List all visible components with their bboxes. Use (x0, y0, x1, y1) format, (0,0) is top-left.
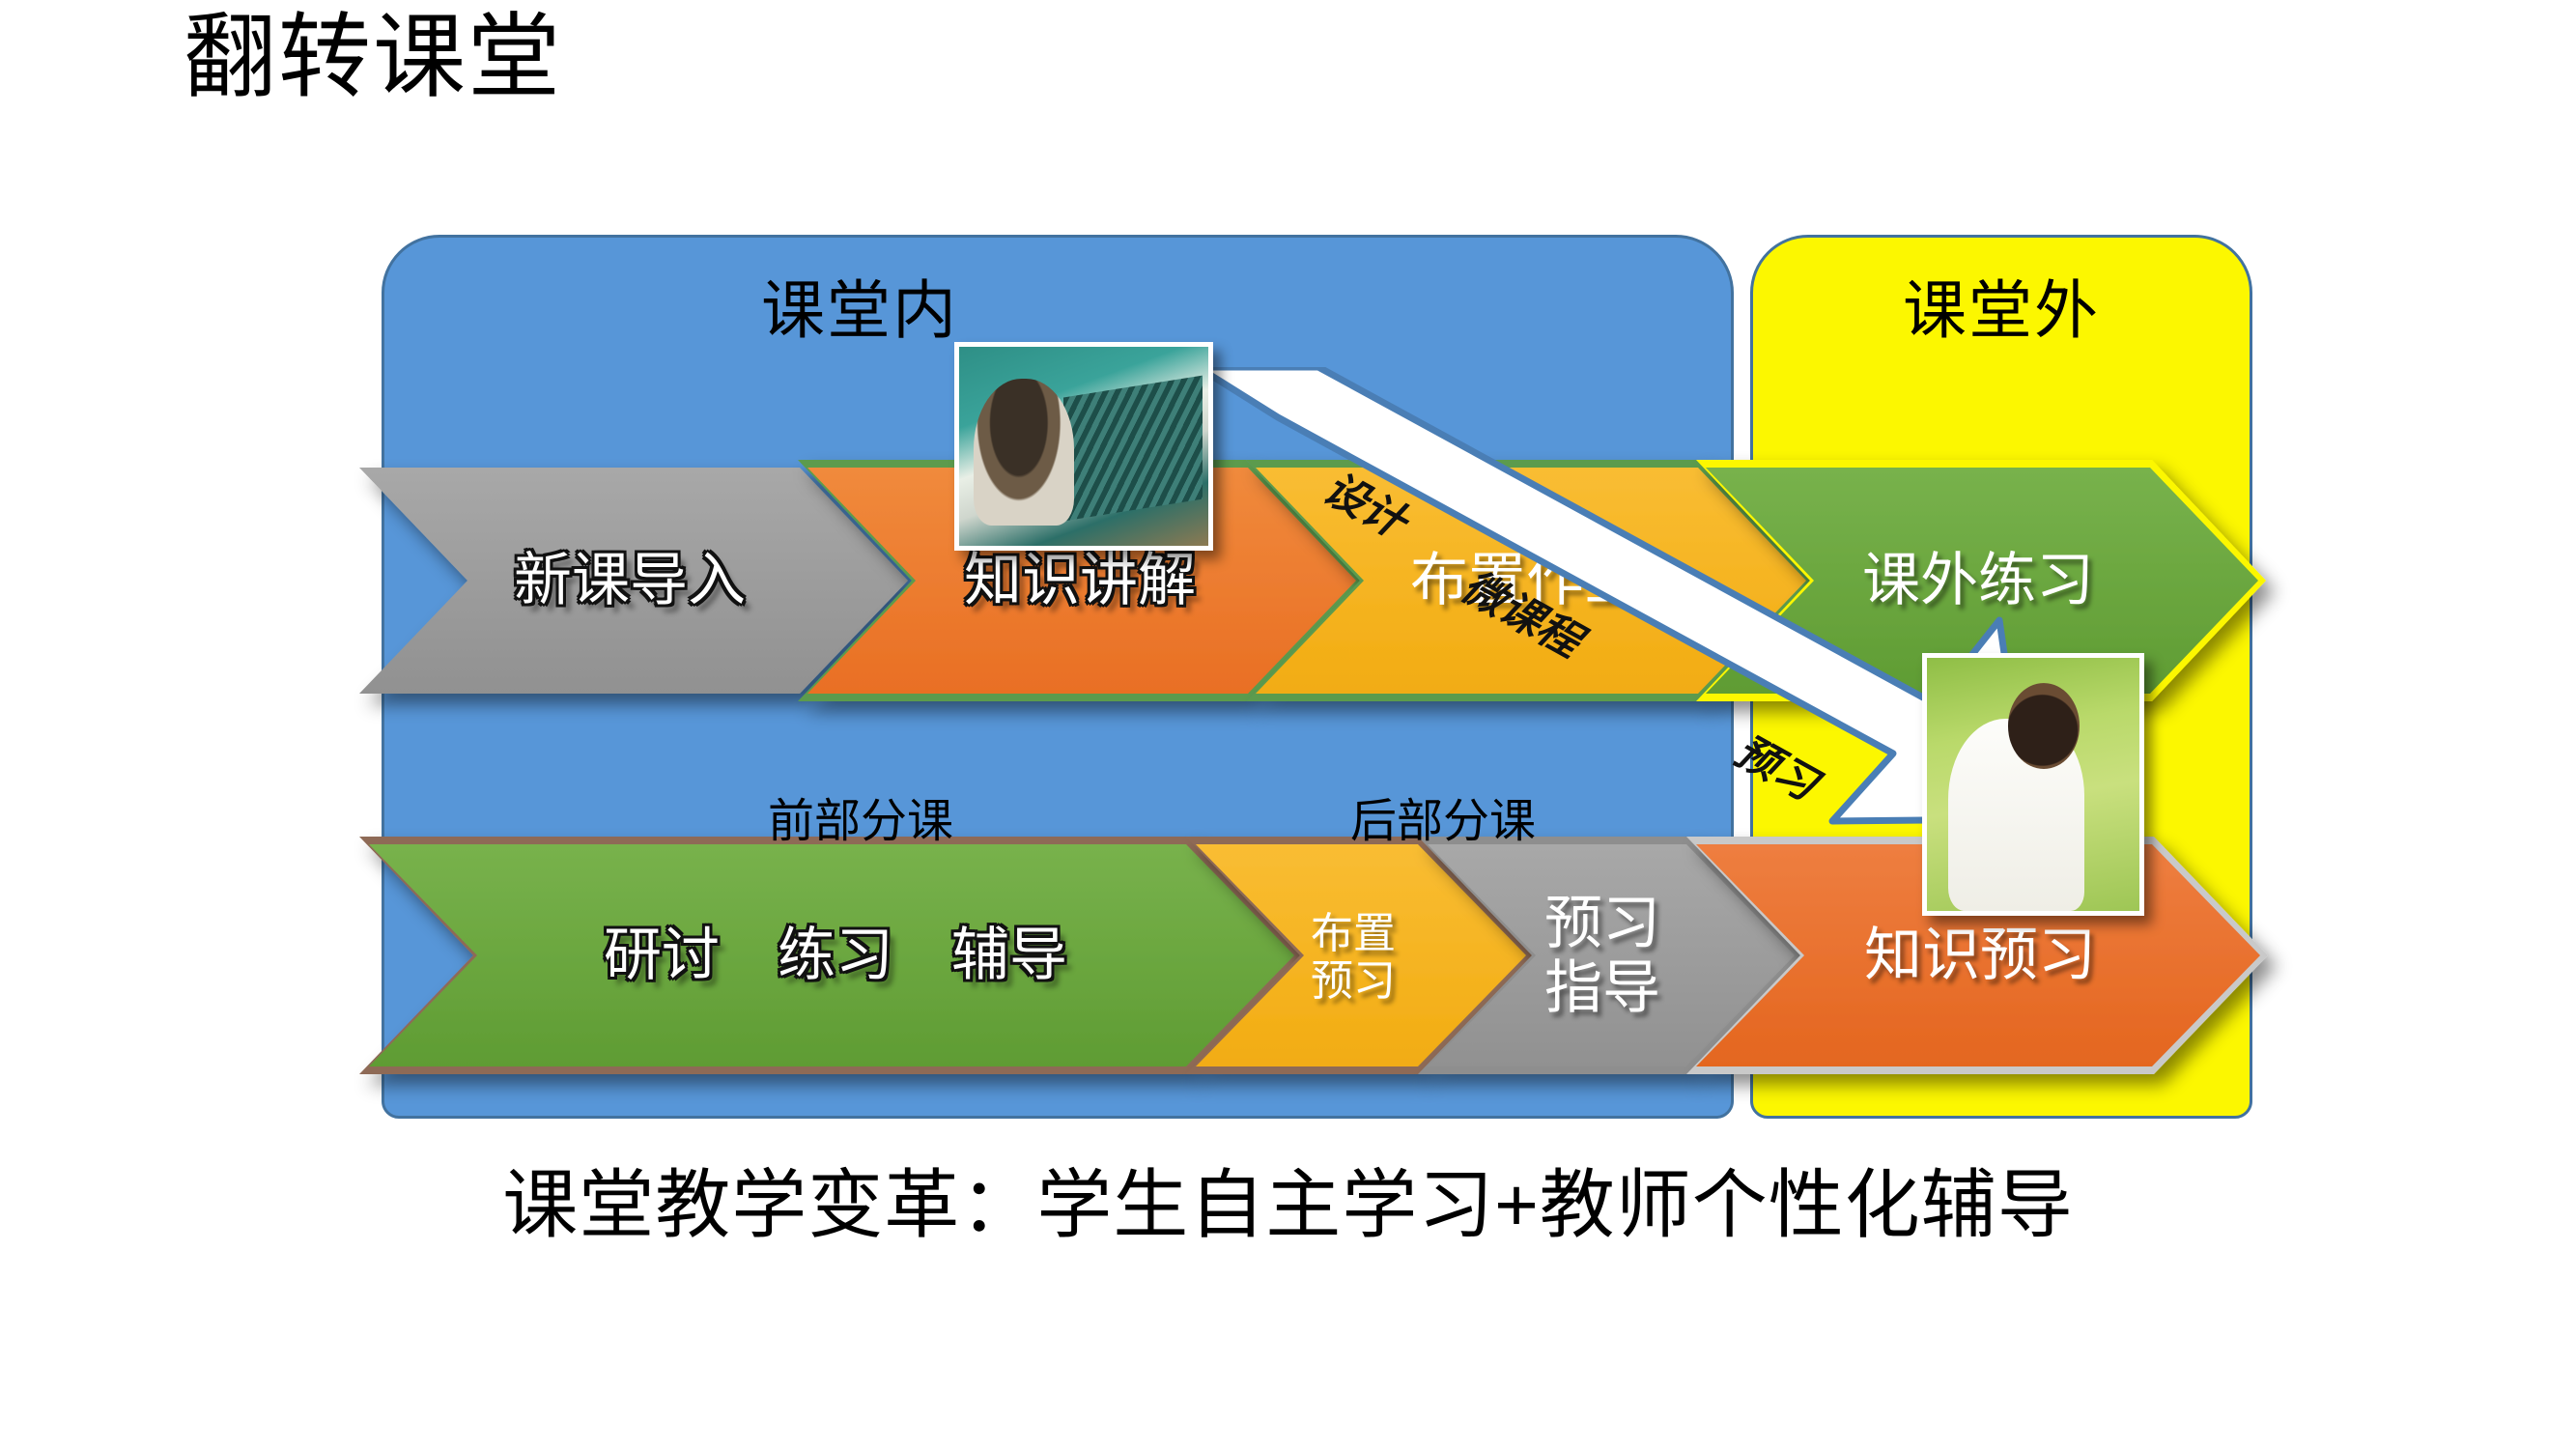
chevron-bottom-1-label-wrap[interactable]: 研讨 练习 辅导 (386, 896, 1285, 1014)
slide-caption: 课堂教学变革：学生自主学习+教师个性化辅导 (0, 1145, 2576, 1253)
panel-outside-label: 课堂外 (1753, 259, 2250, 352)
slide-canvas: 翻转课堂 课堂内 课堂外 (0, 0, 2576, 1450)
chevron-bottom-1-label: 研讨 练习 辅导 (386, 923, 1285, 987)
chevron-bottom-4-label: 知识预习 (1729, 923, 2231, 987)
process-arrow-shape[interactable] (1198, 367, 2028, 821)
photo-child-studying-outdoors[interactable] (1922, 653, 2144, 916)
photo-child-image (1927, 658, 2139, 911)
chevron-bottom-3-label: 预习 指导 (1443, 891, 1762, 1020)
photo-teacher-image (959, 347, 1208, 546)
page-title: 翻转课堂 (184, 8, 562, 108)
photo-teacher-at-computer[interactable] (954, 342, 1213, 551)
split-label-front: 前部分课 (768, 782, 953, 850)
